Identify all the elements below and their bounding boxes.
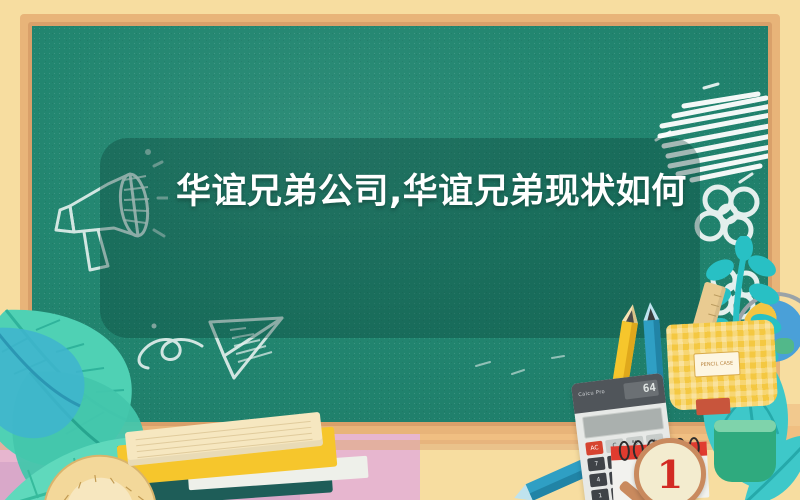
magnifier-number: 1 <box>639 443 701 500</box>
pen-cup-rim <box>714 420 776 432</box>
calculator-key: AC <box>585 441 604 456</box>
chalk-dust-icon <box>472 346 592 386</box>
banner-image: 华谊兄弟公司,华谊兄弟现状如何 <box>0 0 800 500</box>
pencil-case: PENCIL CASE <box>666 319 778 411</box>
calculator-key: 7 <box>587 457 606 472</box>
pencil-case-tag: PENCIL CASE <box>693 351 740 377</box>
magnifying-glass: 1 <box>634 438 706 500</box>
calculator-display-value: 64 <box>642 381 657 396</box>
calculator-key: 1 <box>591 488 610 500</box>
calculator-brand: Calcu Pro <box>578 389 606 398</box>
pen-cup <box>714 420 776 482</box>
page-title: 华谊兄弟公司,华谊兄弟现状如何 <box>176 166 696 218</box>
pencil-case-strap <box>696 398 731 416</box>
calculator-key: 4 <box>589 472 608 487</box>
